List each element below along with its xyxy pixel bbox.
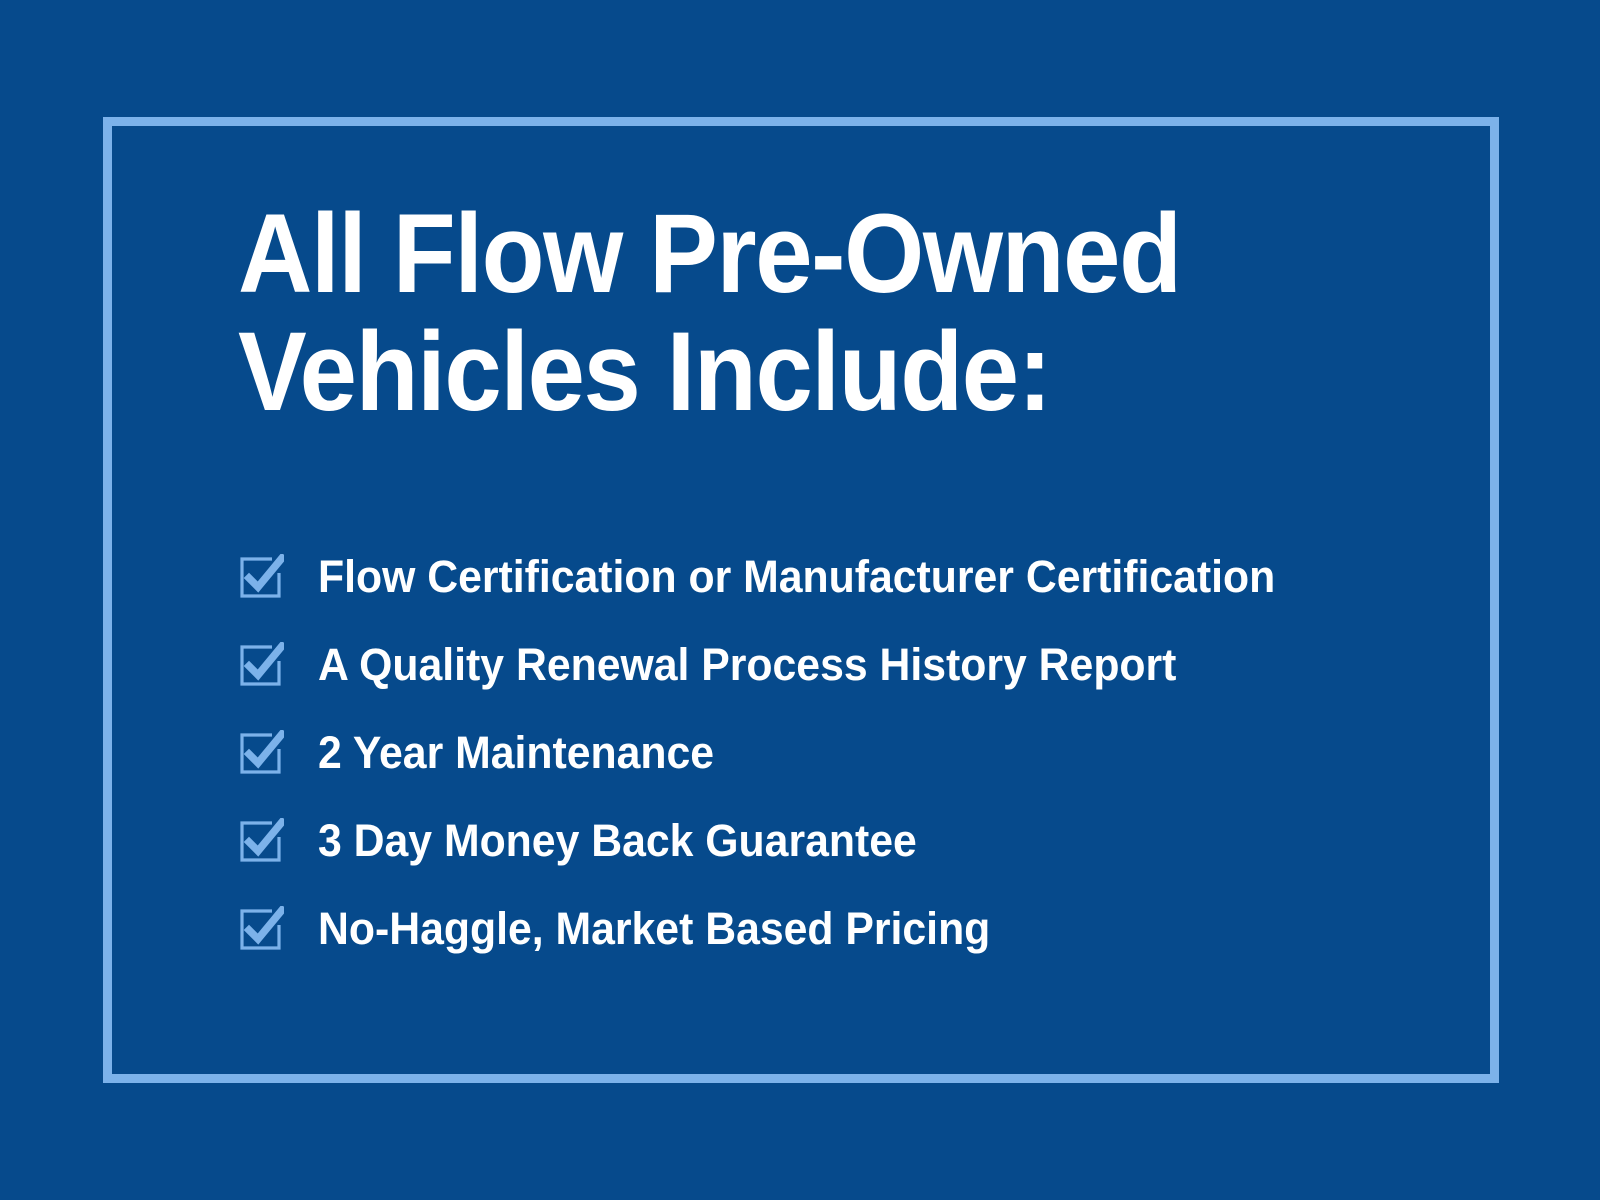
list-item-label: 2 Year Maintenance (318, 730, 714, 776)
list-item: Flow Certification or Manufacturer Certi… (238, 533, 1326, 621)
checkbox-checked-icon (238, 642, 284, 688)
checkbox-checked-icon (238, 730, 284, 776)
checkbox-checked-icon (238, 906, 284, 952)
heading-block: All Flow Pre-Owned Vehicles Include: (238, 195, 1468, 431)
benefits-list: Flow Certification or Manufacturer Certi… (238, 533, 1326, 973)
page-title: All Flow Pre-Owned Vehicles Include: (238, 195, 1370, 431)
list-item: A Quality Renewal Process History Report (238, 621, 1326, 709)
list-item: 2 Year Maintenance (238, 709, 1326, 797)
list-item-label: Flow Certification or Manufacturer Certi… (318, 554, 1275, 600)
checkbox-checked-icon (238, 818, 284, 864)
list-item-label: 3 Day Money Back Guarantee (318, 818, 917, 864)
promo-slide: All Flow Pre-Owned Vehicles Include: Flo… (0, 0, 1600, 1200)
list-item: No-Haggle, Market Based Pricing (238, 885, 1326, 973)
checkbox-checked-icon (238, 554, 284, 600)
list-item-label: No-Haggle, Market Based Pricing (318, 906, 990, 952)
list-item-label: A Quality Renewal Process History Report (318, 642, 1176, 688)
list-item: 3 Day Money Back Guarantee (238, 797, 1326, 885)
